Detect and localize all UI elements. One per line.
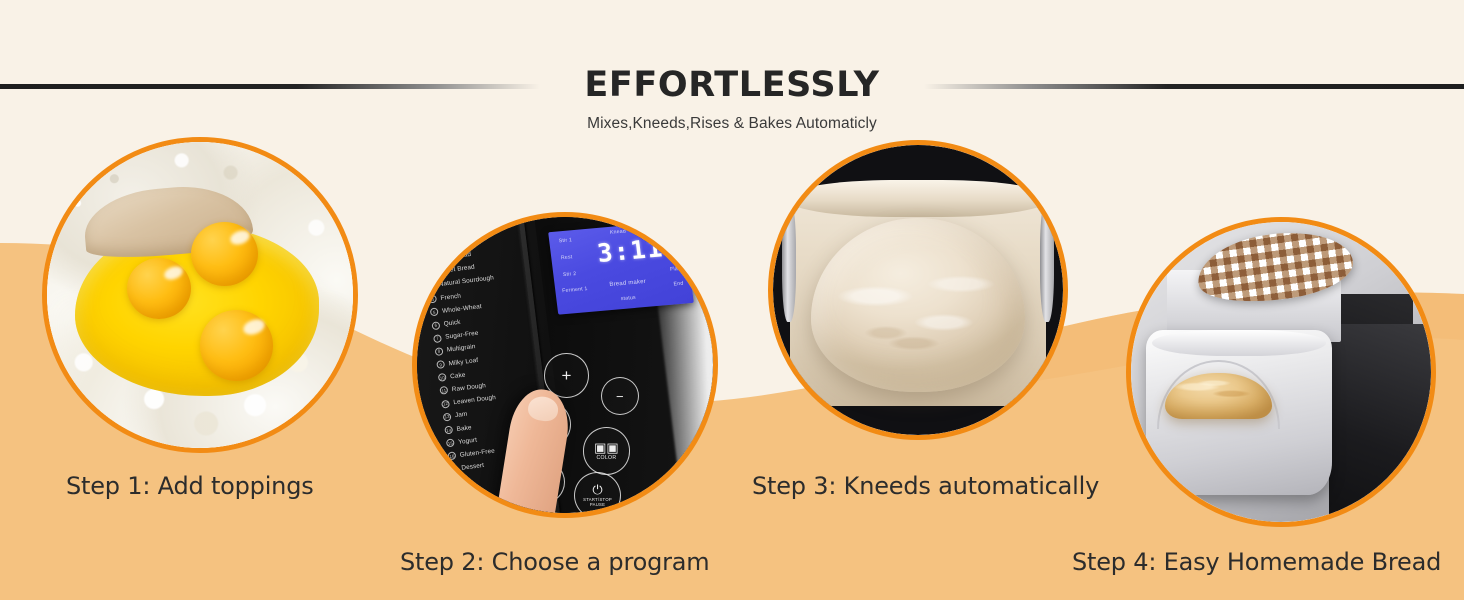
step-2-caption: Step 2: Choose a program	[400, 548, 709, 576]
pause-label: PAUSE	[590, 502, 605, 507]
lcd-device-label: Bread maker	[609, 278, 646, 287]
program-label: Cake	[450, 371, 466, 380]
step-3-image	[768, 140, 1068, 440]
step-1-caption: Step 1: Add toppings	[66, 472, 314, 500]
pan-handle-left	[782, 200, 797, 322]
program-label: Basic Bread	[435, 251, 471, 262]
fingernail	[526, 394, 560, 423]
egg-yolk	[191, 222, 258, 286]
program-number: 15	[446, 438, 455, 447]
program-number: 11	[439, 386, 448, 395]
program-label: Milky Loaf	[448, 356, 478, 367]
program-number: 2	[425, 268, 434, 277]
bread-pan	[1146, 330, 1332, 495]
plus-icon: +	[561, 367, 571, 384]
bread-pan-rim	[1152, 330, 1327, 356]
program-label: Gluten-Free	[459, 447, 495, 458]
step-2-photo: Menu Function 1Basic Bread 2Sweet Bread …	[417, 217, 713, 513]
egg-yolk	[200, 310, 273, 380]
color-button[interactable]: ▣▣ COLOR	[583, 427, 630, 474]
program-number: 1	[423, 255, 432, 264]
step-2-image: Menu Function 1Basic Bread 2Sweet Bread …	[412, 212, 718, 518]
program-number: 8	[435, 347, 444, 356]
lcd-label-end: End	[673, 280, 684, 287]
page-title: EFFORTLESSLY	[0, 64, 1464, 106]
step-4-photo	[1131, 222, 1431, 522]
program-number: 10	[438, 373, 447, 382]
egg-yolk	[127, 258, 191, 319]
step-3-photo	[773, 145, 1063, 435]
step-4-caption: Step 4: Easy Homemade Bread	[1072, 548, 1441, 576]
lcd-label-stir-1: Stir 1	[559, 238, 573, 245]
lcd-display: Stir 1 Rest Stir 2 Ferment 1 Knead Bake …	[548, 220, 694, 314]
program-number: 7	[433, 334, 442, 343]
program-number: 3	[427, 281, 436, 290]
power-icon: ⏻	[592, 483, 602, 496]
program-number: 16	[447, 452, 456, 461]
step-3-caption: Step 3: Kneeds automatically	[752, 472, 1099, 500]
program-label: Bake	[456, 424, 472, 433]
step-4-image	[1126, 217, 1436, 527]
program-number: 14	[444, 425, 453, 434]
program-label: Jam	[455, 411, 468, 419]
page-subtitle: Mixes,Kneeds,Rises & Bakes Automaticly	[0, 115, 1464, 133]
program-label: Yogurt	[458, 436, 478, 445]
program-label: Multigrain	[447, 343, 476, 353]
lcd-label-bake: Bake	[670, 250, 683, 257]
lcd-time-value: 3:11	[596, 235, 665, 266]
machine-control-side	[1329, 324, 1431, 522]
program-number: 5	[430, 308, 439, 317]
lcd-label-rest: Rest	[561, 254, 573, 261]
lcd-label-ferment-1: Ferment 1	[562, 286, 588, 294]
infographic-stage: EFFORTLESSLY Mixes,Kneeds,Rises & Bakes …	[0, 0, 1464, 600]
program-label: Sweet Bread	[437, 264, 475, 276]
program-label: French	[440, 292, 461, 301]
pan-handle-right	[1040, 200, 1055, 322]
program-number: 12	[441, 399, 450, 408]
lcd-label-stir-2: Stir 2	[563, 270, 577, 277]
minus-icon: −	[616, 390, 624, 403]
program-number: 6	[431, 321, 440, 330]
program-number: 17	[449, 465, 458, 474]
lcd-status-label: status	[621, 295, 637, 302]
header-block: EFFORTLESSLY Mixes,Kneeds,Rises & Bakes …	[0, 64, 1464, 133]
bread-pan-rim	[785, 180, 1052, 218]
lcd-label-knead: Knead	[610, 229, 627, 236]
minus-button[interactable]: −	[601, 377, 639, 415]
program-number: 13	[443, 412, 452, 421]
lcd-label-flavor: Flavor	[670, 265, 686, 272]
program-number: 4	[428, 295, 437, 304]
program-label: Dessert	[461, 462, 484, 472]
step-1-photo	[47, 142, 353, 448]
program-label: Raw Dough	[451, 382, 486, 393]
color-button-label: COLOR	[596, 455, 616, 461]
program-label: Quick	[443, 319, 461, 328]
program-label: Sugar-Free	[445, 330, 479, 341]
program-number: 9	[436, 360, 445, 369]
step-1-image	[42, 137, 358, 453]
crust-color-icon: ▣▣	[594, 441, 619, 454]
